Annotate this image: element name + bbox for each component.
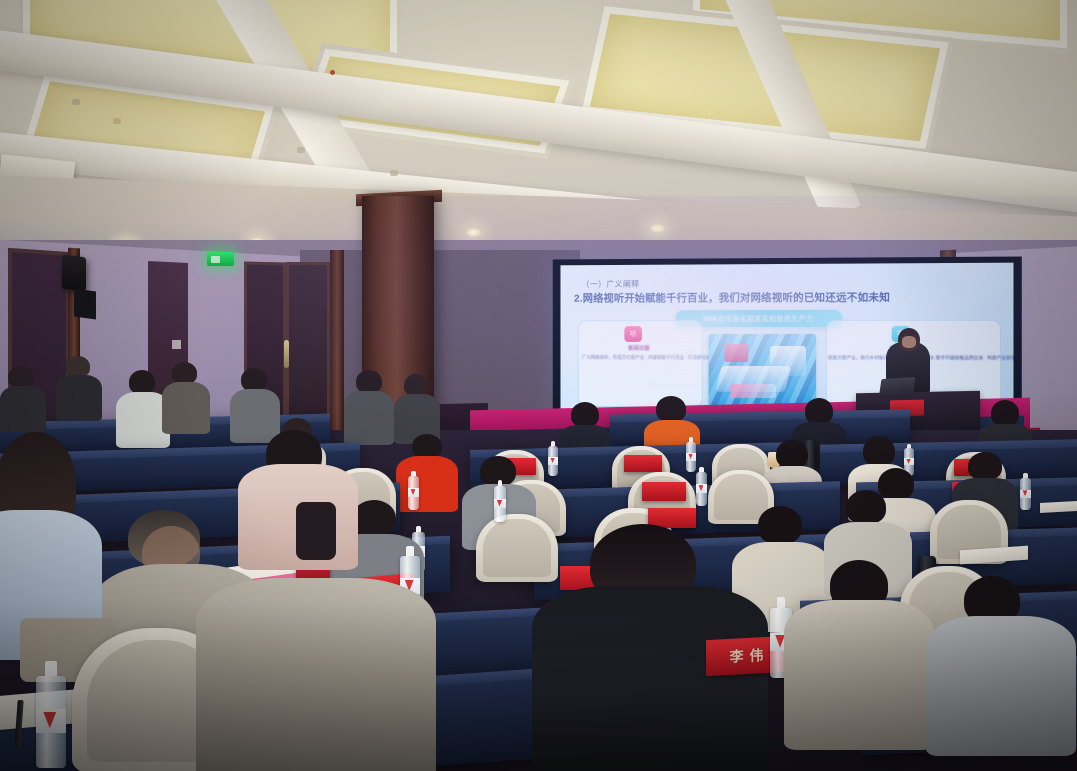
laptop-icon[interactable] (879, 377, 916, 399)
exit-sign (207, 252, 234, 266)
ceiling-fitting (113, 118, 121, 124)
water-bottle[interactable] (696, 472, 707, 506)
sprinkler-head-icon (330, 70, 335, 75)
chair[interactable] (476, 514, 558, 582)
loudspeaker-icon (74, 288, 96, 319)
ceiling-fitting (297, 147, 305, 153)
ceiling-fitting (72, 99, 80, 105)
door-handle[interactable] (284, 340, 289, 368)
table-namecard (624, 455, 662, 472)
conference-room-photo: （一）广义阐释 2.网络视听开始赋能千行百业，我们对网络视听的已知还远不如未知 … (0, 0, 1077, 771)
wood-trim (330, 250, 344, 445)
paper-sheet[interactable] (1040, 501, 1077, 513)
downlight-icon (466, 228, 481, 237)
loudspeaker-icon (62, 255, 86, 292)
water-bottle[interactable] (548, 446, 558, 476)
water-bottle[interactable] (408, 476, 419, 510)
ceiling-fitting (390, 170, 398, 176)
water-bottle[interactable] (36, 676, 66, 768)
presenter-face (902, 336, 916, 348)
water-bottle[interactable] (1020, 478, 1031, 510)
water-bottle[interactable] (686, 442, 696, 472)
water-bottle[interactable] (494, 486, 506, 522)
wall-switch-plate[interactable] (172, 340, 181, 349)
downlight-icon (650, 224, 665, 233)
table-namecard (642, 482, 686, 501)
